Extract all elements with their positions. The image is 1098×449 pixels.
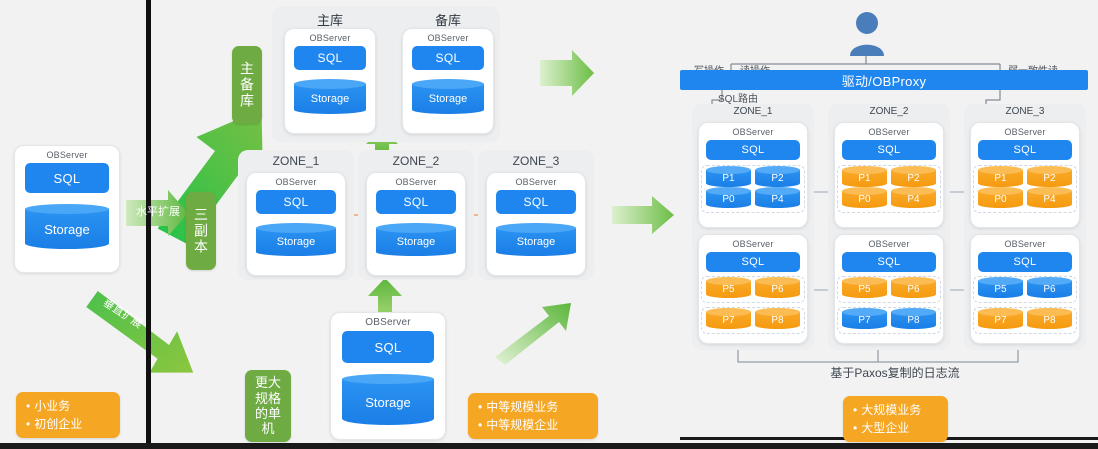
observer-label: OBServer bbox=[732, 127, 773, 137]
partition-cell: P8 bbox=[1027, 312, 1072, 329]
tag-large-business: •大规模业务 •大型企业 bbox=[843, 396, 948, 442]
partition-group: P5 P6 bbox=[701, 276, 805, 303]
label-three-replica: 三副本 bbox=[186, 192, 216, 270]
zone-observer-card: OBServer SQL Storage bbox=[486, 172, 586, 276]
partition-cell: P4 bbox=[891, 191, 936, 208]
storage-cylinder: Storage bbox=[342, 379, 434, 425]
partition-cell: P2 bbox=[1027, 170, 1072, 187]
sql-box: SQL bbox=[706, 252, 800, 272]
partition-cell: P7 bbox=[978, 312, 1023, 329]
standby-db-title: 备库 bbox=[400, 10, 496, 29]
tag-line-1: •大规模业务 bbox=[853, 401, 938, 419]
partition-cell: P8 bbox=[891, 312, 936, 329]
sql-box: SQL bbox=[342, 331, 434, 363]
partition-cell: P2 bbox=[755, 170, 800, 187]
storage-label: Storage bbox=[517, 236, 556, 248]
sql-box: SQL bbox=[376, 190, 456, 214]
zone-title: ZONE_2 bbox=[358, 154, 474, 168]
storage-label: Storage bbox=[44, 222, 90, 237]
bullet-icon: • bbox=[853, 403, 857, 417]
partition-group: P1 P2 P0 P4 bbox=[973, 165, 1077, 213]
arrow-right-to-cluster bbox=[612, 196, 674, 234]
observer-label: OBServer bbox=[1004, 239, 1045, 249]
bullet-icon: • bbox=[853, 421, 857, 435]
partition-cell: P7 bbox=[706, 312, 751, 329]
left-observer-card: OBServer SQL Storage bbox=[14, 145, 120, 273]
observer-label: OBServer bbox=[427, 33, 468, 43]
user-icon bbox=[846, 10, 888, 56]
tag-line-2: •大型企业 bbox=[853, 419, 938, 437]
partition-cell: P8 bbox=[755, 312, 800, 329]
bigmachine-observer-card: OBServer SQL Storage bbox=[330, 312, 446, 440]
storage-cylinder: Storage bbox=[412, 84, 484, 114]
sql-box: SQL bbox=[25, 163, 109, 193]
partition-cell: P1 bbox=[978, 170, 1023, 187]
observer-label: OBServer bbox=[868, 239, 909, 249]
tag-line-2: •初创企业 bbox=[26, 415, 110, 433]
primary-observer-card: OBServer SQL Storage bbox=[284, 28, 376, 134]
label-primary-standby: 主备库 bbox=[232, 46, 262, 124]
partition-group: P1 P2 P0 P4 bbox=[837, 165, 941, 213]
observer-label: OBServer bbox=[365, 317, 411, 328]
cluster-observer-card: OBServer SQL P1 P2 P0 P4 bbox=[970, 122, 1080, 228]
label-bigger-single-machine: 更大规格的单机 bbox=[245, 370, 291, 442]
obproxy-bar: 驱动/OBProxy bbox=[680, 70, 1088, 90]
partition-cell: P5 bbox=[706, 281, 751, 298]
storage-cylinder: Storage bbox=[25, 209, 109, 249]
primary-db-title: 主库 bbox=[282, 10, 378, 29]
cluster-observer-card: OBServer SQL P1 P2 P0 P4 bbox=[834, 122, 944, 228]
observer-label: OBServer bbox=[868, 127, 909, 137]
zone-observer-card: OBServer SQL Storage bbox=[246, 172, 346, 276]
bullet-icon: • bbox=[478, 418, 482, 432]
partition-group: P1 P2 P0 P4 bbox=[701, 165, 805, 213]
label-horizontal-scale: 水平扩展 bbox=[128, 206, 188, 218]
sql-box: SQL bbox=[496, 190, 576, 214]
sql-box: SQL bbox=[842, 140, 936, 160]
storage-label: Storage bbox=[277, 236, 316, 248]
zone-title: ZONE_1 bbox=[238, 154, 354, 168]
cluster-observer-card: OBServer SQL P5 P6 P7 P8 bbox=[698, 234, 808, 344]
partition-cell: P6 bbox=[891, 281, 936, 298]
partition-cell: P2 bbox=[891, 170, 936, 187]
partition-cell: P4 bbox=[1027, 191, 1072, 208]
cluster-zone-title: ZONE_3 bbox=[964, 106, 1086, 117]
observer-label: OBServer bbox=[309, 33, 350, 43]
bottom-border bbox=[0, 443, 1098, 449]
sql-box: SQL bbox=[978, 252, 1072, 272]
storage-cylinder: Storage bbox=[256, 228, 336, 256]
observer-label: OBServer bbox=[395, 177, 436, 187]
tag-line-2: •中等规模企业 bbox=[478, 416, 588, 434]
paxos-caption: 基于Paxos复制的日志流 bbox=[700, 364, 1090, 381]
arrow-up-to-zone2 bbox=[368, 278, 402, 315]
cluster-observer-card: OBServer SQL P5 P6 P7 P8 bbox=[970, 234, 1080, 344]
partition-cell: P6 bbox=[1027, 281, 1072, 298]
partition-group: P7 P8 bbox=[701, 307, 805, 334]
tag-small-business: •小业务 •初创企业 bbox=[16, 392, 120, 438]
partition-group: P5 P6 bbox=[837, 276, 941, 303]
sql-box: SQL bbox=[412, 46, 484, 70]
cluster-zone-title: ZONE_1 bbox=[692, 106, 814, 117]
storage-label: Storage bbox=[365, 395, 411, 410]
sql-box: SQL bbox=[706, 140, 800, 160]
storage-label: Storage bbox=[311, 93, 350, 105]
partition-cell: P1 bbox=[842, 170, 887, 187]
observer-label: OBServer bbox=[515, 177, 556, 187]
sql-box: SQL bbox=[842, 252, 936, 272]
sql-box: SQL bbox=[256, 190, 336, 214]
observer-label: OBServer bbox=[732, 239, 773, 249]
arrow-up-right-cluster bbox=[495, 303, 571, 365]
storage-cylinder: Storage bbox=[376, 228, 456, 256]
observer-label: OBServer bbox=[275, 177, 316, 187]
sql-box: SQL bbox=[294, 46, 366, 70]
tag-line-1: •中等规模业务 bbox=[478, 398, 588, 416]
partition-cell: P0 bbox=[978, 191, 1023, 208]
cluster-observer-card: OBServer SQL P5 P6 P7 P8 bbox=[834, 234, 944, 344]
bullet-icon: • bbox=[478, 400, 482, 414]
bullet-icon: • bbox=[26, 417, 30, 431]
partition-cell: P0 bbox=[706, 191, 751, 208]
zone-observer-card: OBServer SQL Storage bbox=[366, 172, 466, 276]
storage-label: Storage bbox=[429, 93, 468, 105]
tag-medium-business: •中等规模业务 •中等规模企业 bbox=[468, 393, 598, 439]
partition-cell: P7 bbox=[842, 312, 887, 329]
partition-cell: P0 bbox=[842, 191, 887, 208]
storage-cylinder: Storage bbox=[294, 84, 366, 114]
diagram-canvas: OBServer SQL Storage •小业务 •初创企业 水平扩展 垂直扩… bbox=[0, 0, 1098, 449]
partition-cell: P5 bbox=[842, 281, 887, 298]
partition-group: P7 P8 bbox=[973, 307, 1077, 334]
storage-cylinder: Storage bbox=[496, 228, 576, 256]
partition-group: P7 P8 bbox=[837, 307, 941, 334]
partition-cell: P1 bbox=[706, 170, 751, 187]
cluster-observer-card: OBServer SQL P1 P2 P0 P4 bbox=[698, 122, 808, 228]
arrow-right-top bbox=[540, 50, 594, 96]
bullet-icon: • bbox=[26, 399, 30, 413]
label-vertical-scale: 垂直扩展 bbox=[93, 289, 154, 336]
label-sql-route: SQL路由 bbox=[718, 90, 758, 105]
tag-line-1: •小业务 bbox=[26, 397, 110, 415]
storage-label: Storage bbox=[397, 236, 436, 248]
partition-group: P5 P6 bbox=[973, 276, 1077, 303]
sql-box: SQL bbox=[978, 140, 1072, 160]
partition-cell: P6 bbox=[755, 281, 800, 298]
partition-cell: P5 bbox=[978, 281, 1023, 298]
partition-cell: P4 bbox=[755, 191, 800, 208]
zone-title: ZONE_3 bbox=[478, 154, 594, 168]
cluster-zone-title: ZONE_2 bbox=[828, 106, 950, 117]
panel-divider-left bbox=[146, 0, 151, 443]
standby-observer-card: OBServer SQL Storage bbox=[402, 28, 494, 134]
observer-label: OBServer bbox=[46, 150, 87, 160]
observer-label: OBServer bbox=[1004, 127, 1045, 137]
